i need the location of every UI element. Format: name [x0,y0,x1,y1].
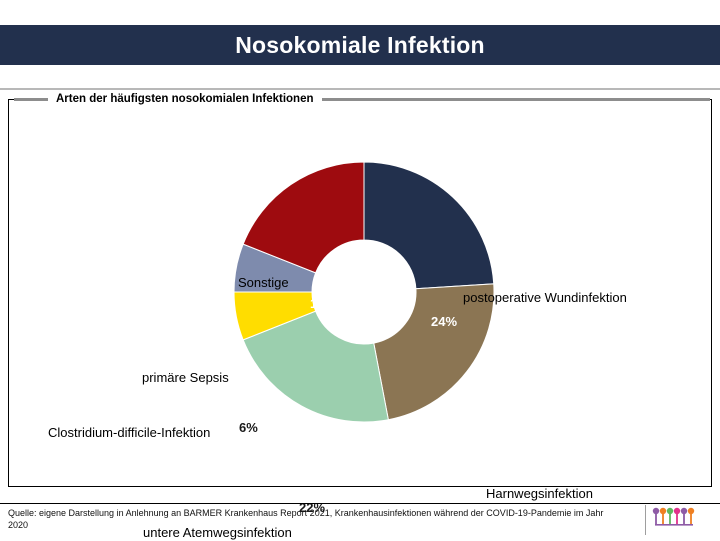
slice-label-clostridium-difficile-infektion: Clostridium-difficile-Infektion [48,426,210,441]
donut-slice [364,162,494,289]
logo-pin-head [688,508,694,514]
slice-label-sonstige: Sonstige [238,276,289,291]
logo-pin-head [674,508,680,514]
donut-graphic [233,161,495,423]
chart-frame-rule-left [14,98,48,101]
slice-label-postoperative-wundinfektion: postoperative Wundinfektion [463,291,627,306]
slice-value-primaere-sepsis: 6% [239,374,258,387]
logo-pin-head [653,508,659,514]
page-title: Nosokomiale Infektion [235,34,485,57]
slice-value-harnwegsinfektion: 23% [445,469,471,482]
chart-legend-title: Arten der häufigsten nosokomialen Infekt… [48,90,322,108]
header-banner: Nosokomiale Infektion [0,25,720,65]
logo-baseline [655,524,693,526]
slice-value-postoperative-wundinfektion: 24% [431,315,457,328]
logo-pin-head [660,508,666,514]
donut-chart: postoperative Wundinfektion Harnwegsinfe… [8,99,712,487]
logo-pin-head [667,508,673,514]
source-note: Quelle: eigene Darstellung in Anlehnung … [8,508,608,532]
slice-label-harnwegsinfektion: Harnwegsinfektion [486,487,593,502]
slice-value-sonstige: 19% [310,297,336,310]
footer-vertical-rule [645,505,646,535]
company-logo [651,505,697,531]
logo-pin-head [681,508,687,514]
footer-divider-line [0,503,720,504]
slice-value-clostridium-difficile-infektion: 6% [239,421,258,434]
chart-frame-rule-right [285,98,710,101]
donut-svg [233,161,495,423]
slice-label-primaere-sepsis: primäre Sepsis [142,371,229,386]
